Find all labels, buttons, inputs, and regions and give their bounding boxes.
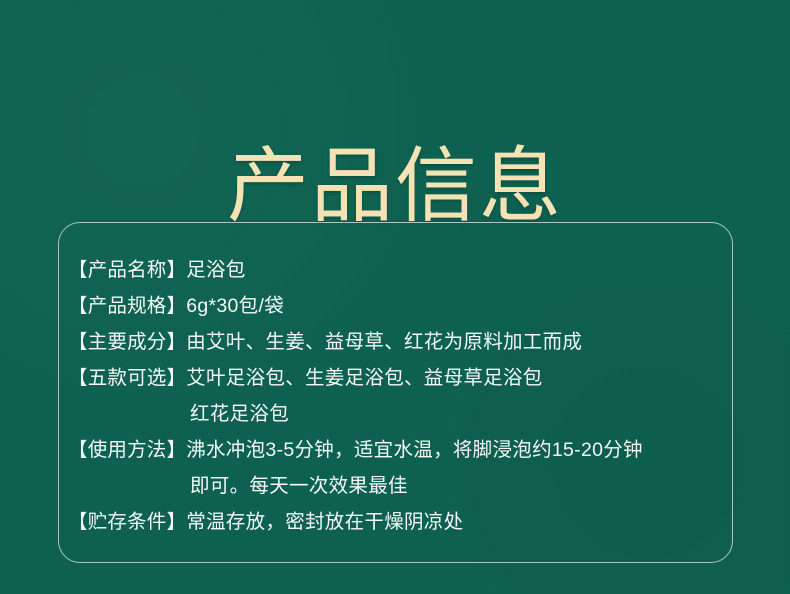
spec-row-value: 沸水冲泡3-5分钟，适宜水温，将脚浸泡约15-20分钟 xyxy=(186,432,643,468)
spec-row-value: 常温存放，密封放在干燥阴凉处 xyxy=(186,504,463,540)
spec-row-value: 足浴包 xyxy=(186,252,245,288)
spec-row: 【主要成分】由艾叶、生姜、益母草、红花为原料加工而成 xyxy=(68,324,728,360)
spec-row-label: 【产品名称】 xyxy=(68,252,186,288)
spec-row-label: 【贮存条件】 xyxy=(68,504,186,540)
page-title: 产品信息 xyxy=(0,141,790,233)
spec-row-label: 【使用方法】 xyxy=(68,432,186,468)
spec-row-value: 6g*30包/袋 xyxy=(186,288,284,324)
spec-row-label: 【主要成分】 xyxy=(68,324,186,360)
spec-row: 红花足浴包 xyxy=(68,396,728,432)
product-info-poster: 产品信息 【产品名称】足浴包【产品规格】6g*30包/袋【主要成分】由艾叶、生姜… xyxy=(0,0,790,594)
spec-row: 即可。每天一次效果最佳 xyxy=(68,468,728,504)
spec-row: 【五款可选】艾叶足浴包、生姜足浴包、益母草足浴包 xyxy=(68,360,728,396)
spec-row: 【贮存条件】常温存放，密封放在干燥阴凉处 xyxy=(68,504,728,540)
spec-row: 【产品规格】6g*30包/袋 xyxy=(68,288,728,324)
spec-row: 【使用方法】沸水冲泡3-5分钟，适宜水温，将脚浸泡约15-20分钟 xyxy=(68,432,728,468)
spec-row-value: 即可。每天一次效果最佳 xyxy=(190,468,408,504)
product-spec-list: 【产品名称】足浴包【产品规格】6g*30包/袋【主要成分】由艾叶、生姜、益母草、… xyxy=(68,252,728,540)
spec-row-label: 【产品规格】 xyxy=(68,288,186,324)
spec-row-label: 【五款可选】 xyxy=(68,360,186,396)
spec-row-value: 红花足浴包 xyxy=(190,396,289,432)
spec-row-value: 艾叶足浴包、生姜足浴包、益母草足浴包 xyxy=(186,360,542,396)
spec-row: 【产品名称】足浴包 xyxy=(68,252,728,288)
spec-row-value: 由艾叶、生姜、益母草、红花为原料加工而成 xyxy=(186,324,582,360)
